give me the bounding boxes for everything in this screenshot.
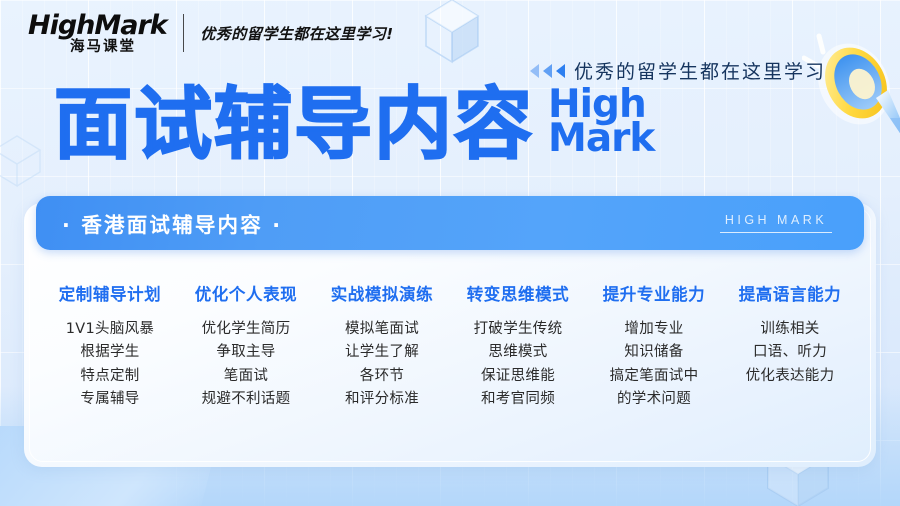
- feature-line: 打破学生传统: [454, 318, 582, 341]
- feature-line: 规避不利话题: [182, 388, 310, 411]
- poster-canvas: HighMark 海马课堂 优秀的留学生都在这里学习! 优秀的留学生都在这里学习…: [0, 0, 900, 506]
- triangle-left-icon: [530, 64, 539, 78]
- page-title-en-line2: Mark: [548, 122, 654, 156]
- feature-line: 增加专业: [590, 318, 718, 341]
- card-header-title: · 香港面试辅导内容 ·: [62, 208, 282, 238]
- feature-line: 特点定制: [46, 365, 174, 388]
- card-header-underline: [720, 232, 832, 234]
- feature-column: 转变思维模式 打破学生传统 思维模式 保证思维能 和考官同频: [450, 281, 586, 412]
- feature-line: 各环节: [318, 365, 446, 388]
- feature-column-title: 定制辅导计划: [46, 281, 174, 305]
- feature-line: 保证思维能: [454, 365, 582, 388]
- content-card: · 香港面试辅导内容 · HIGH MARK 定制辅导计划 1V1头脑风暴 根据…: [24, 203, 876, 467]
- top-tagline: 优秀的留学生都在这里学习: [530, 57, 826, 84]
- megaphone-icon: [802, 14, 900, 154]
- page-title: 面试辅导内容 High Mark: [54, 88, 654, 162]
- card-header-bar: · 香港面试辅导内容 · HIGH MARK: [36, 196, 864, 250]
- logo-chinese-name: 海马课堂: [70, 40, 136, 55]
- wireframe-cube-icon: [404, 0, 500, 74]
- feature-column-title: 提升专业能力: [590, 281, 718, 305]
- wireframe-cube-icon: [0, 130, 52, 192]
- brand-slogan: 优秀的留学生都在这里学习!: [200, 23, 393, 44]
- tagline-text: 优秀的留学生都在这里学习: [574, 57, 826, 84]
- card-header-brand: HIGH MARK: [720, 213, 838, 234]
- feature-column: 优化个人表现 优化学生简历 争取主导 笔面试 规避不利话题: [178, 281, 314, 412]
- page-title-cn: 面试辅导内容: [54, 90, 534, 162]
- logo-divider: [183, 14, 185, 52]
- feature-line: 思维模式: [454, 341, 582, 364]
- feature-column: 实战模拟演练 模拟笔面试 让学生了解 各环节 和评分标准: [314, 281, 450, 412]
- feature-line: 专属辅导: [46, 388, 174, 411]
- feature-line: 口语、听力: [726, 341, 854, 364]
- feature-line: 知识储备: [590, 341, 718, 364]
- feature-line: 模拟笔面试: [318, 318, 446, 341]
- feature-line: 1V1头脑风暴: [46, 318, 174, 341]
- feature-column-title: 实战模拟演练: [318, 281, 446, 305]
- feature-line: 的学术问题: [590, 388, 718, 411]
- page-title-en: High Mark: [548, 88, 654, 162]
- logo-mark: HighMark 海马课堂: [28, 12, 167, 55]
- feature-column: 提高语言能力 训练相关 口语、听力 优化表达能力: [722, 281, 858, 412]
- feature-column-title: 提高语言能力: [726, 281, 854, 305]
- feature-column-title: 转变思维模式: [454, 281, 582, 305]
- card-header-en-label: HIGH MARK: [725, 213, 827, 227]
- feature-columns: 定制辅导计划 1V1头脑风暴 根据学生 特点定制 专属辅导 优化个人表现 优化学…: [42, 281, 858, 412]
- feature-line: 优化表达能力: [726, 365, 854, 388]
- feature-line: 根据学生: [46, 341, 174, 364]
- feature-column: 定制辅导计划 1V1头脑风暴 根据学生 特点定制 专属辅导: [42, 281, 178, 412]
- triangle-left-icon-group: [530, 64, 565, 78]
- feature-line: 和考官同频: [454, 388, 582, 411]
- feature-line: 训练相关: [726, 318, 854, 341]
- feature-line: 搞定笔面试中: [590, 365, 718, 388]
- feature-line: 让学生了解: [318, 341, 446, 364]
- feature-line: 优化学生简历: [182, 318, 310, 341]
- feature-column: 提升专业能力 增加专业 知识储备 搞定笔面试中 的学术问题: [586, 281, 722, 412]
- feature-line: 和评分标准: [318, 388, 446, 411]
- feature-line: 笔面试: [182, 365, 310, 388]
- feature-column-title: 优化个人表现: [182, 281, 310, 305]
- feature-line: 争取主导: [182, 341, 310, 364]
- brand-logo: HighMark 海马课堂 优秀的留学生都在这里学习!: [28, 12, 394, 55]
- logo-wordmark: HighMark: [28, 12, 167, 39]
- triangle-left-icon: [543, 64, 552, 78]
- triangle-left-icon: [556, 64, 565, 78]
